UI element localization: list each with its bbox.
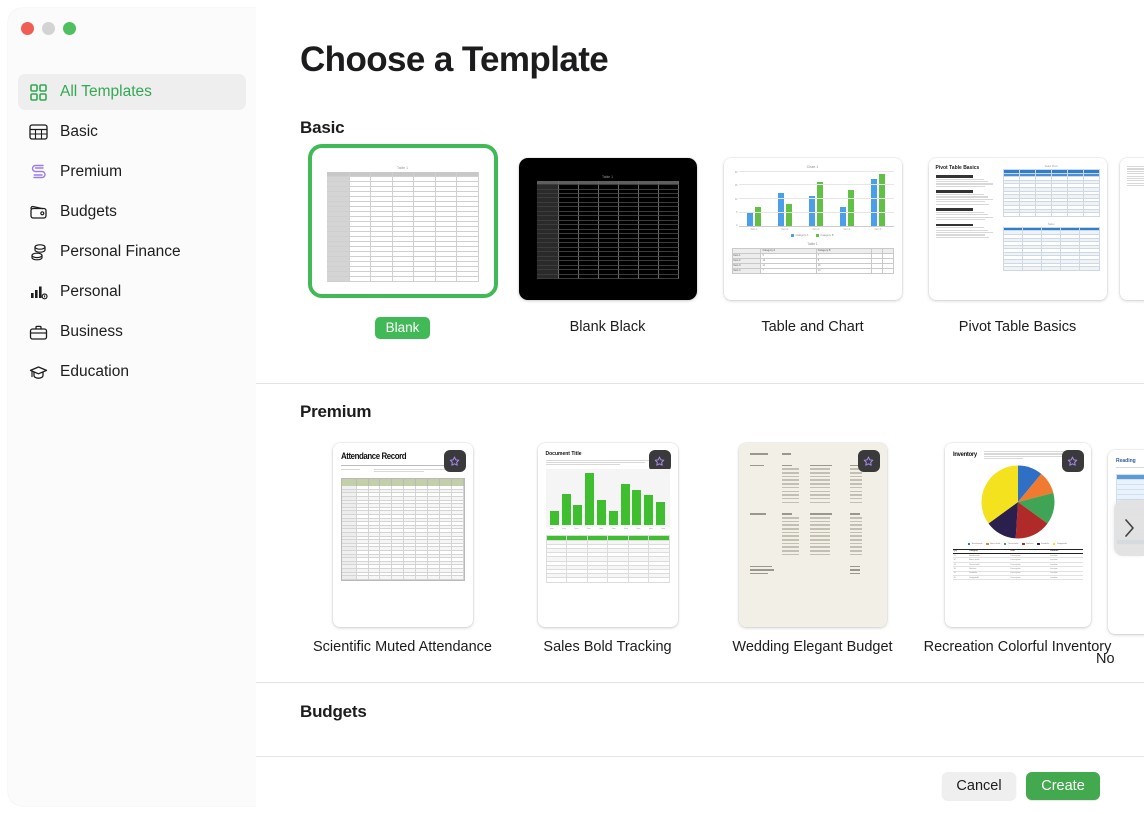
x-tick: Item 1 [751,228,758,231]
header-cell [357,479,369,486]
paragraph-lines [1127,180,1144,186]
legend-swatch [1004,543,1006,545]
x-tick: Item [550,528,554,530]
attendance-grid [341,478,465,580]
sidebar-item-label: Basic [60,123,98,141]
thumbnail-pivot: Pivot Table Basics Sales Pivot Sales [929,158,1107,300]
sidebar-item-label: Premium [60,163,122,181]
cancel-button[interactable]: Cancel [942,772,1016,800]
pie-chart [980,464,1056,540]
table-cell: Dodgeballs [968,576,1009,580]
bar-chart [546,469,670,527]
template-label: Blank Black [513,318,703,338]
table-cell [416,576,428,580]
table-cell [872,268,883,273]
bar [879,174,885,226]
y-tick: 0 [732,224,738,227]
budget-row [750,569,876,571]
grid-cell [659,275,679,279]
table-row [546,578,669,582]
legend-label: Backboards [972,543,983,545]
sidebar-item-label: Personal Finance [60,243,181,261]
main-content: Choose a Template Basic Table 1 Blan [256,0,1144,814]
template-card-wedding-elegant-budget[interactable]: Wedding Elegant Budget [710,442,915,658]
sidebar-list: All Templates Basic Premium Budgets [18,74,246,394]
chevron-right-icon [1123,518,1136,538]
bar [585,473,594,526]
basic-template-row: Table 1 Blank Table 1 [300,150,1120,339]
template-card-scientific-muted-attendance[interactable]: Attendance Record [300,442,505,658]
legend-item: Category B [816,234,833,237]
x-tick: Item 4 [844,228,851,231]
table-cell [1080,267,1099,271]
y-tick: 10 [732,198,738,201]
legend-label: Bocce balls [990,543,1000,545]
table-cell [1003,213,1019,217]
premium-template-row: Attendance Record [300,442,1144,658]
budget-row [750,566,876,568]
table-title: Table 1 [327,166,479,170]
legend-label: Footballs [1041,543,1049,545]
section-basic: Basic Table 1 Blank [256,108,1144,384]
legend-item: Category A [791,234,808,237]
budget-row [750,465,876,467]
thumbnail-wedding [739,443,887,627]
table-cell [546,578,567,582]
sidebar-item-label: Business [60,323,123,341]
table-row: Item 4713 [732,268,893,273]
table-row [1003,213,1099,217]
header-cell [404,479,416,486]
budget-row [750,573,876,575]
create-button[interactable]: Create [1026,772,1100,800]
x-tick: Item 2 [782,228,789,231]
thumbnail-wrap: Document Title ItemItemItemItemItemItemI… [513,442,703,628]
table-cell [369,576,381,580]
bar [562,494,571,525]
thumbnail-blank-black: Table 1 [519,158,697,300]
preview-table: Category ACategory BItem 157Item 2128Ite… [732,248,894,274]
premium-badge-icon [858,450,880,472]
grid-cell [579,275,599,279]
budget-row [750,498,876,500]
template-card-blank-black[interactable]: Table 1 Blank Black [505,150,710,339]
budget-row [750,521,876,523]
y-tick: 20 [732,171,738,174]
table-cell [567,578,588,582]
table-cell [428,576,440,580]
sidebar: All Templates Basic Premium Budgets [8,8,256,806]
pivot-table-caption-2: Sales [1003,223,1100,226]
table-cell [1061,267,1080,271]
pivot-preview-partial [1120,158,1144,300]
legend-swatch [816,234,819,237]
legend-swatch [791,234,794,237]
budget-row [750,476,876,478]
table-cell [1051,213,1067,217]
spreadsheet-preview: Table 1 [528,167,688,291]
template-card-pivot-table-basics[interactable]: Pivot Table Basics Sales Pivot Sales [915,150,1120,339]
thumbnail-wrap: Table 1 [513,150,703,308]
chart-preview: Chart 1 20151050 Item 1Item 2Item 3Item … [724,158,902,300]
table-title: Table 1 [732,242,894,246]
thumbnail-wrap [718,442,908,628]
table-cell [342,576,357,580]
table-cell: 35 [953,576,969,580]
sidebar-item-label: Personal [60,283,121,301]
budget-row [750,550,876,552]
template-card-blank[interactable]: Table 1 Blank [300,150,505,339]
bar [621,484,630,526]
bar [550,511,559,526]
pie-chart-wrap [953,464,1083,540]
thumbnail-table-and-chart: Chart 1 20151050 Item 1Item 2Item 3Item … [724,158,902,300]
briefcase-icon [28,322,49,343]
grid-cell [537,275,559,279]
legend-swatch [1053,543,1055,545]
budget-row [750,532,876,534]
grid-cell [327,277,351,282]
bar [840,207,846,226]
budget-row [750,513,876,515]
chart-plot: 20151050 [732,171,894,227]
table-cell [587,578,608,582]
x-axis-labels: Item 1Item 2Item 3Item 4Item 5 [732,228,894,231]
legend-item: Tennis balls [1004,543,1018,545]
paragraph-lines [936,227,998,238]
partial-paragraphs [1127,166,1144,186]
x-tick: Item [649,528,653,530]
thumbnail-wrap: Pivot Table Basics Sales Pivot Sales [923,150,1113,308]
minimize-button[interactable] [42,22,55,35]
legend-label: Tennis balls [1008,543,1018,545]
table-cell [1019,213,1035,217]
bar-group [871,171,885,226]
header-cell [392,479,404,486]
budget-rows [750,453,876,574]
table-row [342,576,464,580]
sales-preview: Document Title ItemItemItemItemItemItemI… [538,443,678,627]
header-cell [380,479,392,486]
sidebar-item-premium[interactable]: Premium [18,154,246,190]
budget-row [750,472,876,474]
table-cell: 13 [816,268,872,273]
bar-group [778,171,792,226]
grid-cell [619,275,639,279]
x-tick: Item [624,528,628,530]
chart-title: Chart 1 [732,165,894,169]
y-axis-ticks: 20151050 [732,171,739,227]
page-title: Choose a Template [300,40,608,80]
thumbnail-wrap: Inventory BackboardsBocce ballsTennis ba… [923,442,1113,628]
thumbnail-sales-bold: Document Title ItemItemItemItemItemItemI… [538,443,678,627]
header-cell [452,479,464,486]
bar-group [840,171,854,226]
grid-cell [393,277,414,282]
dialog-footer: Cancel Create [256,756,1144,814]
legend-swatch [986,543,988,545]
spreadsheet-grid [327,172,479,282]
legend-item: Dodgeballs [1053,543,1067,545]
paragraph-heading [936,208,973,211]
next-page-button[interactable] [1114,500,1144,556]
bar [632,490,641,525]
legend-item: Backboards [968,543,982,545]
legend-label: Category B [821,234,834,237]
bar [755,207,761,226]
budget-row [750,543,876,545]
table-cell [1003,267,1022,271]
sidebar-item-personal[interactable]: Personal [18,274,246,310]
template-label: Blank [375,317,431,339]
chart-legend: Category A Category B [732,234,894,237]
paragraph-heading [936,190,973,193]
legend-label: Rackets [1026,543,1033,545]
grid-cell [414,277,435,282]
grid-icon [28,82,49,103]
header-cell [369,479,381,486]
bar-group-container [739,171,894,227]
header-cell [440,479,452,486]
table-icon [28,122,49,143]
section-heading: Budgets [300,702,367,722]
attendance-header-row [342,479,464,486]
template-card-table-and-chart[interactable]: Chart 1 20151050 Item 1Item 2Item 3Item … [710,150,915,339]
pivot-paragraphs [936,175,998,238]
template-label-partial: No [1096,650,1144,670]
x-tick: Item [599,528,603,530]
table-row: 35DodgeballsDescriptionLocation [953,576,1083,580]
preview-table [546,535,670,582]
bar [786,204,792,226]
template-label: Recreation Colorful Inventory [923,638,1113,658]
paragraph-lines [936,212,998,220]
budget-row [750,554,876,556]
sidebar-item-label: All Templates [60,83,152,101]
sidebar-item-label: Education [60,363,129,381]
sidebar-item-label: Budgets [60,203,117,221]
thumbnail-wrap: Table 1 [308,150,498,308]
legend-swatch [968,543,970,545]
x-tick: Item 3 [813,228,820,231]
premium-badge-icon [1062,450,1084,472]
table-title: Table 1 [537,175,679,179]
attendance-rows [342,486,464,579]
section-heading: Basic [300,118,344,138]
budget-row [750,491,876,493]
table-cell [649,578,670,582]
pivot-text-column: Pivot Table Basics [936,165,998,293]
bar [817,182,823,226]
budget-row [750,487,876,489]
budget-row [750,479,876,481]
table-cell [608,578,629,582]
y-tick: 5 [732,211,738,214]
sidebar-item-all-templates[interactable]: All Templates [18,74,246,110]
spreadsheet-grid [537,181,679,279]
bar [573,505,582,525]
template-card-partial-basic[interactable] [1120,158,1144,300]
section-divider [256,682,1144,683]
table-cell: Description [1010,576,1049,580]
legend-item: Rackets [1022,543,1033,545]
budget-row [750,546,876,548]
thumbnail-wrap: Chart 1 20151050 Item 1Item 2Item 3Item … [718,150,908,308]
template-label: Table and Chart [718,318,908,338]
bar [597,500,606,526]
x-tick: Item [587,528,591,530]
inventory-table: QtyCategoryItemLocation11BackboardsDescr… [953,549,1083,581]
table-cell: Item 4 [732,268,761,273]
table-cell: 7 [761,268,816,273]
bar [656,502,665,526]
thumbnail-wrap: Attendance Record [308,442,498,628]
x-tick: Item [575,528,579,530]
legend-swatch [1022,543,1024,545]
bar [871,179,877,226]
budget-row [750,483,876,485]
section-budgets: Budgets [256,692,1144,752]
paragraph-heading [936,175,973,178]
x-axis-labels: ItemItemItemItemItemItemItemItemItemItem [546,528,670,530]
paragraph-lines [936,194,998,205]
grid-cell [639,275,659,279]
thumbnail-inventory: Inventory BackboardsBocce ballsTennis ba… [945,443,1091,627]
sidebar-item-business[interactable]: Business [18,314,246,350]
pivot-tables-column: Sales Pivot Sales [1003,165,1100,293]
template-card-recreation-colorful-inventory[interactable]: Inventory BackboardsBocce ballsTennis ba… [915,442,1120,658]
table-row [1003,267,1099,271]
table-cell [392,576,404,580]
table-cell [1042,267,1061,271]
paragraph-lines [936,179,998,187]
sidebar-item-basic[interactable]: Basic [18,114,246,150]
grid-cell [371,277,392,282]
x-tick: Item [562,528,566,530]
bar-group [747,171,761,226]
table-cell [1035,213,1051,217]
table-cell [440,576,452,580]
sidebar-item-education[interactable]: Education [18,354,246,390]
template-label: Pivot Table Basics [923,318,1113,338]
pivot-title: Pivot Table Basics [936,165,998,171]
header-cell [342,479,357,486]
table-cell [882,268,893,273]
table-cell [357,576,369,580]
template-label: Scientific Muted Attendance [308,638,498,658]
legend-label: Dodgeballs [1057,543,1067,545]
pivot-table-caption: Sales Pivot [1003,165,1100,168]
table-cell [380,576,392,580]
legend-swatch [1037,543,1039,545]
budget-row [750,539,876,541]
bar-chart-icon [28,282,49,303]
bar [848,190,854,226]
pivot-table-1 [1003,169,1100,217]
x-tick: Item [661,528,665,530]
template-card-sales-bold-tracking[interactable]: Document Title ItemItemItemItemItemItemI… [505,442,710,658]
wallet-icon [28,202,49,223]
table-cell [628,578,649,582]
budget-row [750,524,876,526]
sidebar-item-personal-finance[interactable]: Personal Finance [18,234,246,270]
ribbon-icon [28,162,49,183]
pivot-preview: Pivot Table Basics Sales Pivot Sales [929,158,1107,300]
attendance-title: Attendance Record [341,451,450,461]
header-cell [416,479,428,486]
grid-cell [436,277,457,282]
x-tick: Item 5 [875,228,882,231]
template-chooser-window: All Templates Basic Premium Budgets [0,0,1144,814]
thumbnail-blank: Table 1 [318,158,488,294]
budget-row [750,517,876,519]
close-button[interactable] [21,22,34,35]
bar [609,511,618,526]
zoom-button[interactable] [63,22,76,35]
pie-legend: BackboardsBocce ballsTennis ballsRackets… [953,543,1083,545]
grid-cell [599,275,619,279]
budget-row [750,528,876,530]
paragraph-heading [936,224,973,227]
x-tick: Item [636,528,640,530]
spreadsheet-preview: Table 1 [318,158,488,294]
budget-row [750,453,876,455]
legend-label: Category A [796,234,809,237]
table-cell [1083,213,1099,217]
bar [747,212,753,226]
legend-item: Bocce balls [986,543,1000,545]
section-heading: Premium [300,402,371,422]
table-cell [1022,267,1041,271]
legend-item: Footballs [1037,543,1049,545]
bar [644,495,653,525]
grid-cell [559,275,579,279]
budget-row [750,502,876,504]
traffic-lights [21,22,76,35]
table-cell: Location [1049,576,1083,580]
pivot-table-2 [1003,227,1100,271]
paragraph-lines [1127,173,1144,179]
inventory-title: Inventory [953,451,977,461]
coins-icon [28,242,49,263]
header-cell [428,479,440,486]
budget-row [750,535,876,537]
grid-cell [457,277,478,282]
template-label: Wedding Elegant Budget [718,638,908,658]
table-cell [404,576,416,580]
y-tick: 15 [732,184,738,187]
template-label: Sales Bold Tracking [513,638,703,658]
table-cell [1067,213,1083,217]
grid-cell [350,277,371,282]
budget-row [750,468,876,470]
budget-row [750,494,876,496]
section-premium: Premium Attendance Record [256,392,1144,684]
paragraph-lines [1127,166,1144,172]
sidebar-item-budgets[interactable]: Budgets [18,194,246,230]
thumbnail-attendance: Attendance Record [333,443,473,627]
reading-title: Reading [1116,458,1144,464]
graduation-cap-icon [28,362,49,383]
x-tick: Item [612,528,616,530]
bar-group [809,171,823,226]
section-divider [256,383,1144,384]
table-cell [452,576,464,580]
